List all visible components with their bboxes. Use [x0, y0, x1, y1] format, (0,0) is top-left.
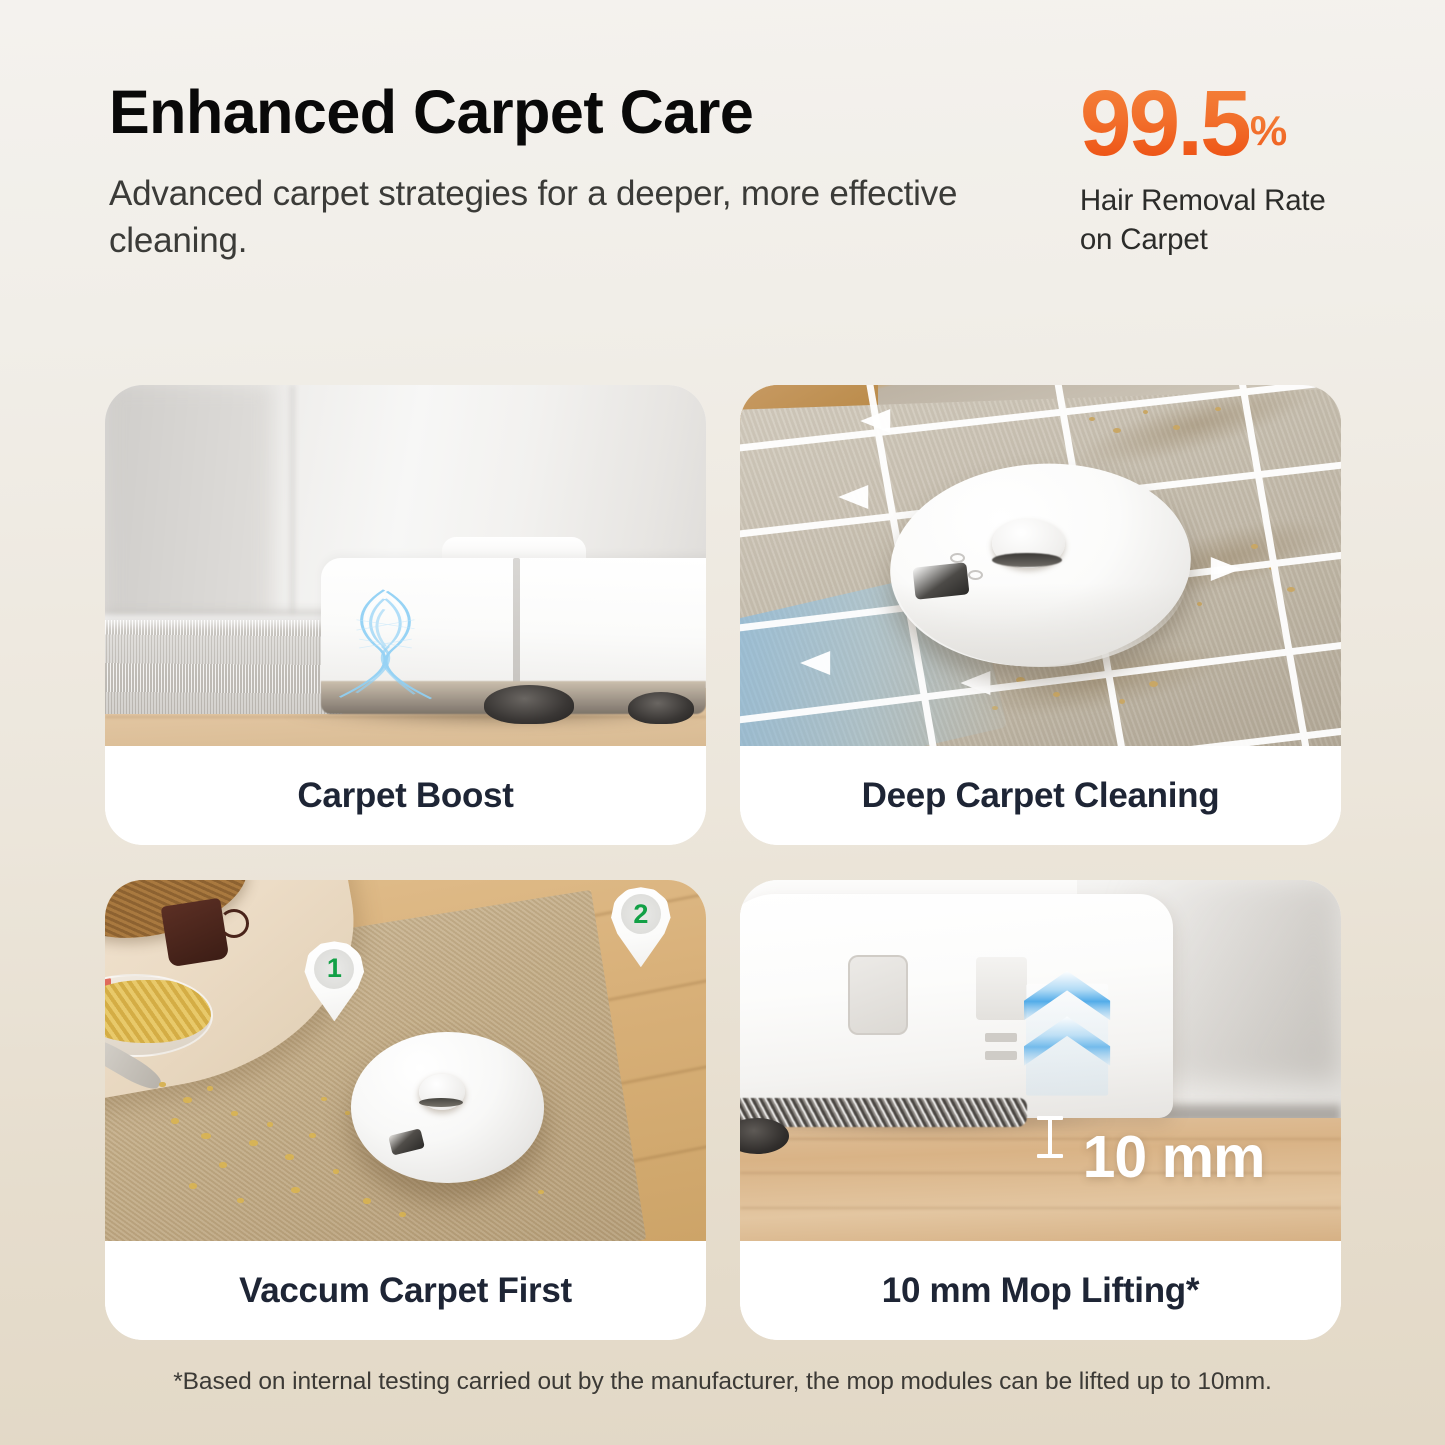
robot-vacuum-top-view: [890, 464, 1191, 666]
stat-number-row: 99.5 %: [1080, 80, 1341, 166]
stat-value: 99.5: [1080, 80, 1249, 166]
feature-card-mop-lifting[interactable]: 10 mm 10 mm Mop Lifting*: [740, 880, 1341, 1340]
card-label-mop-lifting: 10 mm Mop Lifting*: [740, 1241, 1341, 1340]
robot-button: [968, 570, 983, 580]
rug-edge-highlight: [105, 615, 345, 631]
side-vent-block: [976, 957, 1026, 1020]
mop-module: [740, 1098, 1027, 1127]
robot-wheel: [484, 685, 574, 725]
carpet-boost-photo: [105, 385, 706, 746]
vaccum-carpet-first-photo: 1 2: [105, 880, 706, 1241]
rug-pile-texture: [105, 620, 345, 714]
map-pin-1[interactable]: 1: [303, 941, 365, 1021]
wall-seam: [291, 385, 294, 630]
map-pin-2[interactable]: 2: [610, 887, 672, 967]
pin-inner-circle: 1: [314, 949, 354, 989]
feature-card-carpet-boost[interactable]: Carpet Boost: [105, 385, 706, 845]
wall-panel: [105, 385, 273, 645]
card-label-vaccum-carpet-first: Vaccum Carpet First: [105, 1241, 706, 1340]
footnote: *Based on internal testing carried out b…: [0, 1368, 1445, 1396]
deep-carpet-cleaning-photo: [740, 385, 1341, 746]
pin-inner-circle: 2: [621, 894, 661, 934]
card-label-deep-carpet-cleaning: Deep Carpet Cleaning: [740, 746, 1341, 845]
robot-sensor-window: [913, 563, 970, 601]
shag-rug: [105, 620, 345, 714]
hair-removal-stat: 99.5 % Hair Removal Rate on Carpet: [1080, 78, 1341, 259]
pin-number: 2: [633, 901, 648, 928]
suction-swirl-icon: [315, 584, 453, 703]
feature-card-vaccum-carpet-first[interactable]: 1 2 Vaccum Carpet First: [105, 880, 706, 1340]
header-text-block: Enhanced Carpet Care Advanced carpet str…: [109, 78, 1080, 264]
header: Enhanced Carpet Care Advanced carpet str…: [109, 78, 1341, 264]
page-title: Enhanced Carpet Care: [109, 82, 1080, 143]
measurement-caliper-icon: [1037, 1116, 1063, 1158]
feature-card-grid: Carpet Boost: [105, 385, 1341, 1340]
stat-caption: Hair Removal Rate on Carpet: [1080, 182, 1341, 259]
robot-wheel: [628, 692, 694, 724]
robot-vacuum-top-view: [351, 1032, 543, 1184]
side-sensor-panel: [848, 955, 907, 1036]
page-subtitle: Advanced carpet strategies for a deeper,…: [109, 171, 1080, 264]
measurement-label: 10 mm: [1083, 1128, 1265, 1187]
mop-lift-chevron-icon: [1022, 967, 1112, 1097]
stat-percent-symbol: %: [1250, 110, 1287, 152]
card-label-carpet-boost: Carpet Boost: [105, 746, 706, 845]
pin-number: 1: [327, 955, 342, 982]
feature-card-deep-carpet-cleaning[interactable]: Deep Carpet Cleaning: [740, 385, 1341, 845]
mop-lifting-photo: 10 mm: [740, 880, 1341, 1241]
robot-seam: [513, 558, 520, 684]
